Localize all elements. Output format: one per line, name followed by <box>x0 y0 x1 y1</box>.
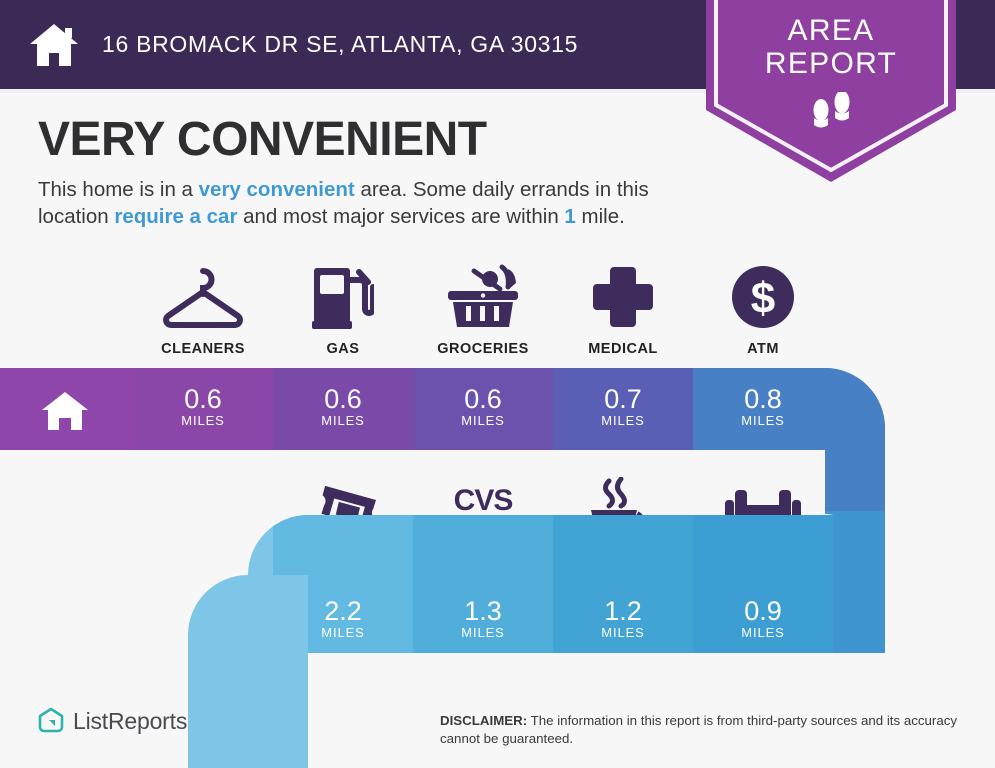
header-content: 16 BROMACK DR SE, ATLANTA, GA 30315 <box>28 0 578 89</box>
hanger-icon <box>161 262 245 332</box>
disclaimer-label: DISCLAIMER: <box>440 713 527 728</box>
area-report-infographic: 16 BROMACK DR SE, ATLANTA, GA 30315 AREA… <box>0 0 995 768</box>
category-groceries: GROCERIES <box>413 262 553 357</box>
area-report-badge: AREA REPORT <box>706 0 956 187</box>
row2-cell-pharmacy <box>413 505 553 660</box>
category-label: MEDICAL <box>588 341 658 357</box>
category-row-1: CLEANERS GAS <box>133 262 835 357</box>
home-icon <box>28 22 80 68</box>
medical-cross-icon <box>591 262 655 332</box>
listreports-house-icon <box>38 707 64 735</box>
row1-cell-cleaners <box>133 365 273 453</box>
gas-pump-icon <box>312 262 374 332</box>
disclaimer: DISCLAIMER: The information in this repo… <box>440 712 985 748</box>
category-label: ATM <box>747 341 779 357</box>
summary-part-1: This home is in a <box>38 178 199 201</box>
category-cleaners: CLEANERS <box>133 262 273 357</box>
row2-cell-coffee <box>553 505 693 660</box>
dollar-circle-icon: $ <box>731 262 795 332</box>
category-label: GROCERIES <box>437 341 529 357</box>
summary-highlight-3: 1 <box>564 205 575 228</box>
logo-text: ListReports <box>73 708 187 735</box>
row1-home-cell <box>0 365 133 453</box>
summary-highlight-1: very convenient <box>199 178 355 201</box>
row1-cell-groceries <box>413 365 553 453</box>
summary-part-3: and most major services are within <box>237 205 564 228</box>
summary-text: This home is in a very convenient area. … <box>38 176 703 230</box>
row2-bar-segments <box>248 505 893 660</box>
ribbon-bottom-tail <box>188 565 313 768</box>
category-medical: MEDICAL <box>553 262 693 357</box>
listreports-logo: ListReports <box>38 707 187 735</box>
row1-bar-segments <box>0 365 885 453</box>
category-atm: $ ATM <box>693 262 833 357</box>
row2-cell-gym <box>693 505 833 660</box>
summary-highlight-2: require a car <box>114 205 237 228</box>
grocery-basket-icon <box>444 262 522 332</box>
badge-title-line1: AREA <box>706 14 956 47</box>
category-label: GAS <box>327 341 360 357</box>
row1-cell-medical <box>553 365 693 453</box>
summary-part-4: mile. <box>576 205 625 228</box>
svg-text:$: $ <box>751 274 775 323</box>
category-gas: GAS <box>273 262 413 357</box>
property-address: 16 BROMACK DR SE, ATLANTA, GA 30315 <box>102 31 578 58</box>
category-label: CLEANERS <box>161 341 245 357</box>
footprints-icon <box>807 92 859 138</box>
page-title: VERY CONVENIENT <box>38 112 487 167</box>
badge-title: AREA REPORT <box>706 14 956 80</box>
row1-cell-gas <box>273 365 413 453</box>
badge-title-line2: REPORT <box>706 47 956 80</box>
